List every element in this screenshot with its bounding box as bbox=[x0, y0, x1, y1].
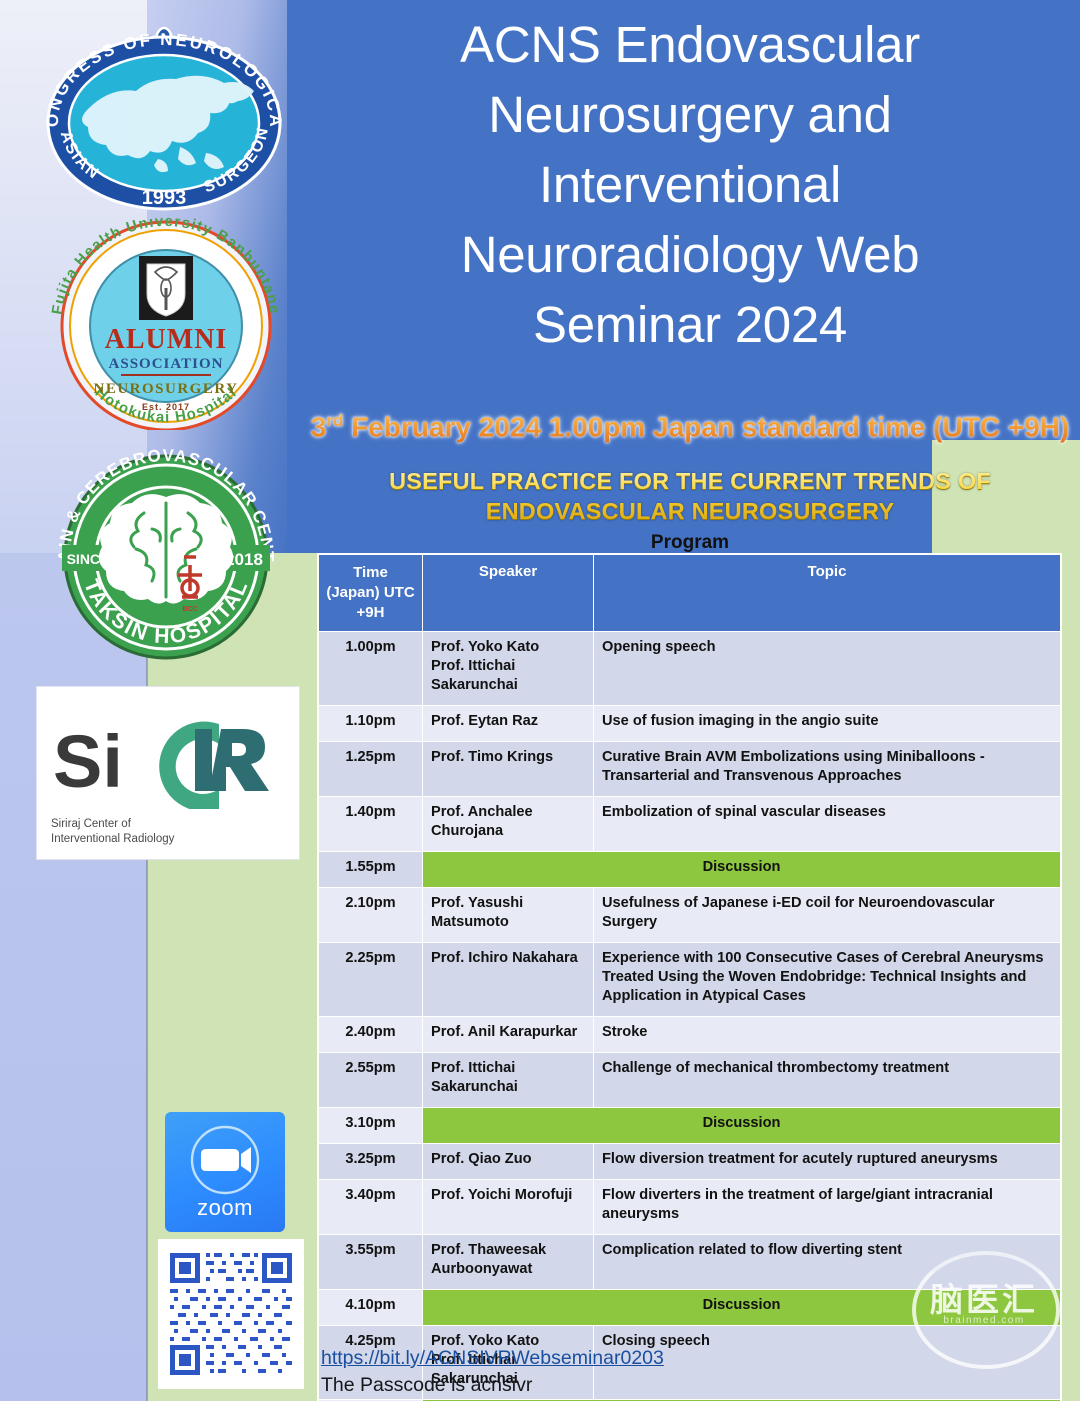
table-row: 2.55pmProf. Ittichai SakarunchaiChalleng… bbox=[319, 1053, 1061, 1108]
row-speaker: Prof. Timo Krings bbox=[423, 742, 594, 797]
row-topic: Complication related to flow diverting s… bbox=[594, 1235, 1061, 1290]
date-ordinal-suffix: rd bbox=[326, 411, 343, 430]
title-line-2: Neurosurgery and bbox=[305, 80, 1075, 150]
svg-text:BCC: BCC bbox=[182, 606, 197, 613]
row-time: 1.00pm bbox=[319, 632, 423, 706]
event-date-time: 3rd February 2024 1.00pm Japan standard … bbox=[300, 404, 1080, 444]
program-label: Program bbox=[300, 532, 1080, 554]
webinar-link[interactable]: https://bit.ly/ACNSIVRWebseminar0203 bbox=[321, 1347, 664, 1370]
zoom-logo[interactable]: zoom bbox=[165, 1112, 285, 1232]
table-row: 3.40pmProf. Yoichi MorofujiFlow diverter… bbox=[319, 1180, 1061, 1235]
row-speaker: Prof. Eytan Raz bbox=[423, 706, 594, 742]
row-time: 3.10pm bbox=[319, 1108, 423, 1144]
table-row: 3.25pmProf. Qiao ZuoFlow diversion treat… bbox=[319, 1144, 1061, 1180]
title-line-5: Seminar 2024 bbox=[305, 290, 1075, 360]
svg-text:Si: Si bbox=[53, 720, 123, 803]
left-sidebar-panel bbox=[0, 553, 147, 1401]
row-session-label: Discussion bbox=[423, 852, 1061, 888]
column-header-time-line2: (Japan) UTC bbox=[323, 583, 418, 603]
table-row: 3.55pmProf. Thaweesak AurboonyawatCompli… bbox=[319, 1235, 1061, 1290]
table-row: 3.10pmDiscussion bbox=[319, 1108, 1061, 1144]
row-speaker: Prof. Anchalee Churojana bbox=[423, 797, 594, 852]
column-header-time-line1: Time bbox=[323, 563, 418, 583]
banner-line-1: USEFUL PRACTICE FOR THE CURRENT TRENDS O… bbox=[300, 466, 1080, 496]
column-header-topic: Topic bbox=[594, 555, 1061, 632]
svg-text:ALUMNI: ALUMNI bbox=[105, 324, 228, 355]
asian-congress-of-neurological-surgeons-logo: CONGRESS OF NEUROLOGICAL ASIAN SURGEONS … bbox=[30, 5, 298, 215]
row-topic: Experience with 100 Consecutive Cases of… bbox=[594, 943, 1061, 1017]
fujita-health-university-alumni-logo: Fujita Health University Banbuntane Hoto… bbox=[35, 218, 297, 430]
row-topic: Flow diversion treatment for acutely rup… bbox=[594, 1144, 1061, 1180]
row-time: 3.40pm bbox=[319, 1180, 423, 1235]
program-table-body: 1.00pmProf. Yoko KatoProf. Ittichai Saka… bbox=[319, 632, 1061, 1401]
row-time: 4.10pm bbox=[319, 1290, 423, 1326]
passcode-text: The Passcode is acnsivr bbox=[321, 1374, 532, 1397]
column-header-speaker: Speaker bbox=[423, 555, 594, 632]
table-row: 4.10pmDiscussion bbox=[319, 1290, 1061, 1326]
row-time: 3.25pm bbox=[319, 1144, 423, 1180]
svg-text:NEUROSURGERY: NEUROSURGERY bbox=[94, 381, 239, 397]
row-topic: Flow diverters in the treatment of large… bbox=[594, 1180, 1061, 1235]
row-session-label: Discussion bbox=[423, 1108, 1061, 1144]
row-speaker: Prof. Ittichai Sakarunchai bbox=[423, 1053, 594, 1108]
row-topic: Opening speech bbox=[594, 632, 1061, 706]
table-row: 2.40pmProf. Anil KarapurkarStroke bbox=[319, 1017, 1061, 1053]
sidebar-divider bbox=[146, 553, 148, 1401]
row-speaker: Prof. Yasushi Matsumoto bbox=[423, 888, 594, 943]
row-topic: Curative Brain AVM Embolizations using M… bbox=[594, 742, 1061, 797]
table-row: 2.25pmProf. Ichiro NakaharaExperience wi… bbox=[319, 943, 1061, 1017]
row-speaker: Prof. Yoko KatoProf. Ittichai Sakaruncha… bbox=[423, 632, 594, 706]
program-table: Time (Japan) UTC +9H Speaker Topic 1.00p… bbox=[318, 554, 1061, 1401]
sicir-subtitle: Siriraj Center of Interventional Radiolo… bbox=[51, 817, 174, 847]
table-row: 2.10pmProf. Yasushi MatsumotoUsefulness … bbox=[319, 888, 1061, 943]
row-speaker: Prof. Yoichi Morofuji bbox=[423, 1180, 594, 1235]
row-topic: Use of fusion imaging in the angio suite bbox=[594, 706, 1061, 742]
title-line-3: Interventional bbox=[305, 150, 1075, 220]
poster-canvas: CONGRESS OF NEUROLOGICAL ASIAN SURGEONS … bbox=[0, 0, 1080, 1401]
row-time: 1.25pm bbox=[319, 742, 423, 797]
row-time: 1.40pm bbox=[319, 797, 423, 852]
zoom-label: zoom bbox=[165, 1195, 285, 1221]
banner-line-2: ENDOVASCULAR NEUROSURGERY bbox=[300, 496, 1080, 526]
sicir-subtitle-line1: Siriraj Center of bbox=[51, 817, 174, 832]
table-row: 1.10pmProf. Eytan RazUse of fusion imagi… bbox=[319, 706, 1061, 742]
page-title: ACNS Endovascular Neurosurgery and Inter… bbox=[305, 10, 1075, 360]
row-time: 2.25pm bbox=[319, 943, 423, 1017]
sicir-subtitle-line2: Interventional Radiology bbox=[51, 832, 174, 847]
program-table-container: Time (Japan) UTC +9H Speaker Topic 1.00p… bbox=[318, 554, 1060, 1401]
row-speaker: Prof. Qiao Zuo bbox=[423, 1144, 594, 1180]
row-topic: Embolization of spinal vascular diseases bbox=[594, 797, 1061, 852]
svg-text:Est. 2017: Est. 2017 bbox=[142, 402, 190, 412]
row-speaker: Prof. Ichiro Nakahara bbox=[423, 943, 594, 1017]
date-day-number: 3 bbox=[311, 411, 327, 442]
row-time: 2.10pm bbox=[319, 888, 423, 943]
date-remainder: February 2024 1.00pm Japan standard time… bbox=[343, 411, 1069, 442]
row-time: 1.55pm bbox=[319, 852, 423, 888]
row-time: 3.55pm bbox=[319, 1235, 423, 1290]
column-header-time-line3: +9H bbox=[323, 603, 418, 623]
table-row: 1.40pmProf. Anchalee ChurojanaEmbolizati… bbox=[319, 797, 1061, 852]
taksin-hospital-brain-cerebrovascular-center-logo: BRAIN & CEREBROVASCULAR CENTER TAKSIN HO… bbox=[40, 445, 292, 660]
table-row: 1.25pmProf. Timo KringsCurative Brain AV… bbox=[319, 742, 1061, 797]
row-time: 2.40pm bbox=[319, 1017, 423, 1053]
seminar-theme-banner: USEFUL PRACTICE FOR THE CURRENT TRENDS O… bbox=[300, 466, 1080, 526]
title-line-4: Neuroradiology Web bbox=[305, 220, 1075, 290]
svg-text:1993: 1993 bbox=[142, 187, 187, 209]
title-line-1: ACNS Endovascular bbox=[305, 10, 1075, 80]
column-header-time: Time (Japan) UTC +9H bbox=[319, 555, 423, 632]
row-topic: Challenge of mechanical thrombectomy tre… bbox=[594, 1053, 1061, 1108]
table-header-row: Time (Japan) UTC +9H Speaker Topic bbox=[319, 555, 1061, 632]
table-row: 1.00pmProf. Yoko KatoProf. Ittichai Saka… bbox=[319, 632, 1061, 706]
svg-text:ASSOCIATION: ASSOCIATION bbox=[109, 356, 224, 372]
row-speaker: Prof. Thaweesak Aurboonyawat bbox=[423, 1235, 594, 1290]
row-time: 2.55pm bbox=[319, 1053, 423, 1108]
row-session-label: Discussion bbox=[423, 1290, 1061, 1326]
table-row: 1.55pmDiscussion bbox=[319, 852, 1061, 888]
row-topic: Usefulness of Japanese i-ED coil for Neu… bbox=[594, 888, 1061, 943]
row-topic: Stroke bbox=[594, 1017, 1061, 1053]
row-speaker: Prof. Anil Karapurkar bbox=[423, 1017, 594, 1053]
qr-code[interactable] bbox=[158, 1239, 304, 1389]
row-time: 1.10pm bbox=[319, 706, 423, 742]
siriraj-center-of-interventional-radiology-logo: Si Siriraj Center of Interventional Radi… bbox=[36, 686, 300, 860]
